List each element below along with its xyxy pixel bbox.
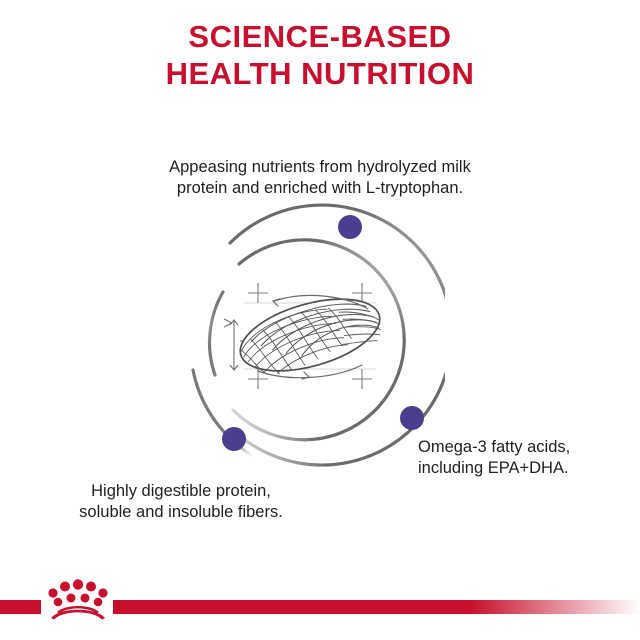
purple-dot-icon-left	[222, 427, 246, 451]
brand-bar-right-segment	[113, 600, 640, 614]
callout-bottom-right-line-1: Omega-3 fatty acids,	[418, 437, 633, 458]
callout-top: Appeasing nutrients from hydrolyzed milk…	[0, 157, 640, 199]
purple-dot-icon-right	[400, 406, 424, 430]
callout-bottom-left-line-1: Highly digestible protein,	[36, 481, 326, 502]
kibble-sketch-icon	[224, 283, 388, 389]
callout-bottom-left-line-2: soluble and insoluble fibers.	[36, 502, 326, 523]
product-info-panel: SCIENCE-BASED HEALTH NUTRITION Appeasing…	[0, 0, 640, 640]
purple-dot-icon-top	[338, 215, 362, 239]
title-line-1: SCIENCE-BASED	[0, 18, 640, 55]
callout-top-line-2: protein and enriched with L-tryptophan.	[0, 178, 640, 199]
callout-bottom-right: Omega-3 fatty acids, including EPA+DHA.	[418, 437, 633, 479]
callout-top-line-1: Appeasing nutrients from hydrolyzed milk	[0, 157, 640, 178]
kibble-orbit-graphic	[175, 200, 445, 470]
royal-canin-crown-logo	[46, 578, 110, 622]
page-title: SCIENCE-BASED HEALTH NUTRITION	[0, 18, 640, 92]
brand-bar-left-segment	[0, 600, 41, 614]
callout-bottom-left: Highly digestible protein, soluble and i…	[36, 481, 326, 523]
title-line-2: HEALTH NUTRITION	[0, 55, 640, 92]
callout-bottom-right-line-2: including EPA+DHA.	[418, 458, 633, 479]
